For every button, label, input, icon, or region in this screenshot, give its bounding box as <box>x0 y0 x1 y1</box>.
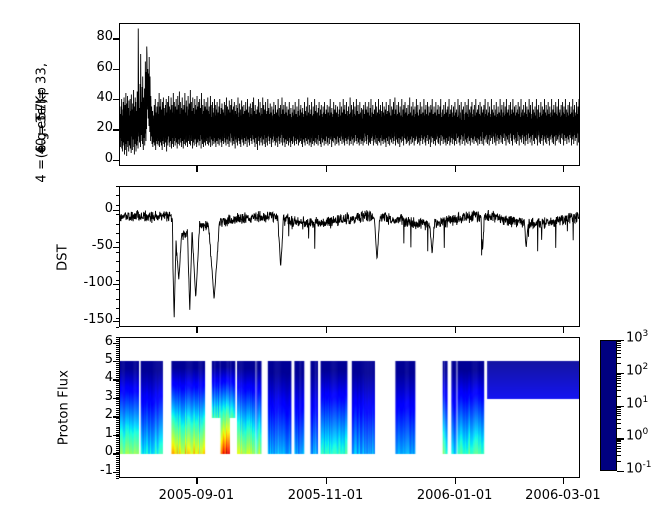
y-tick-label: 60 <box>77 60 113 75</box>
y-minor-tick <box>116 464 120 465</box>
y-minor-tick <box>116 403 120 404</box>
y-minor-tick <box>116 422 120 423</box>
y-minor-tick <box>116 474 120 475</box>
colorbar-minor-tick <box>617 363 621 364</box>
y-tick-label: -1 <box>77 463 113 478</box>
y-minor-tick <box>116 379 120 380</box>
colorbar-tick-label: 102 <box>626 362 648 378</box>
colorbar-minor-tick <box>617 411 621 412</box>
x-tick-mark <box>326 327 327 333</box>
colorbar-minor-tick <box>617 343 621 344</box>
colorbar-minor-tick <box>617 440 621 441</box>
y-minor-tick <box>116 416 120 417</box>
y-minor-tick <box>116 446 120 447</box>
y-minor-tick <box>116 399 120 400</box>
colorbar-minor-tick <box>617 380 621 381</box>
y-minor-tick <box>116 428 120 429</box>
y-minor-tick <box>116 450 120 451</box>
y-minor-tick <box>116 349 120 350</box>
colorbar-minor-tick <box>617 353 621 354</box>
x-tick-mark <box>563 478 564 484</box>
y-minor-tick <box>116 458 120 459</box>
y-minor-tick <box>116 343 120 344</box>
colorbar-minor-tick <box>617 407 621 408</box>
y-minor-tick <box>116 436 120 437</box>
y-tick-label: 80 <box>77 29 113 44</box>
colorbar-minor-tick <box>617 451 621 452</box>
colorbar-minor-tick <box>617 446 621 447</box>
y-minor-tick <box>116 438 120 439</box>
y-minor-tick <box>116 424 120 425</box>
y-minor-tick <box>116 414 120 415</box>
y-tick-label: -50 <box>77 238 113 253</box>
y-minor-tick <box>116 432 120 433</box>
y-tick-label: 0 <box>77 444 113 459</box>
y-minor-tick <box>116 393 120 394</box>
y-minor-tick <box>116 385 120 386</box>
y-minor-tick <box>116 186 120 187</box>
y-tick-label: 2 <box>77 407 113 422</box>
y-minor-tick <box>116 397 120 398</box>
y-minor-tick <box>116 395 120 396</box>
y-minor-tick <box>116 383 120 384</box>
y-minor-tick <box>116 418 120 419</box>
x-tick-mark <box>455 327 456 333</box>
y-minor-tick <box>116 242 120 243</box>
y-minor-tick <box>116 440 120 441</box>
y-tick-label: 20 <box>77 120 113 135</box>
y-tick-mark <box>113 99 119 100</box>
y-minor-tick <box>116 405 120 406</box>
y-minor-tick <box>116 391 120 392</box>
colorbar-tick-mark <box>617 471 624 472</box>
colorbar-minor-tick <box>617 415 621 416</box>
y-minor-tick <box>116 365 120 366</box>
y-minor-tick <box>116 442 120 443</box>
colorbar-minor-tick <box>617 350 621 351</box>
y-minor-tick <box>116 369 120 370</box>
colorbar-minor-tick <box>617 419 621 420</box>
y-minor-tick <box>116 261 120 262</box>
y-minor-tick <box>116 377 120 378</box>
colorbar-minor-tick <box>617 461 621 462</box>
y-tick-label: 4 <box>77 370 113 385</box>
y-minor-tick <box>116 337 120 338</box>
y-minor-tick <box>116 401 120 402</box>
y-tick-label: 40 <box>77 90 113 105</box>
colorbar-minor-tick <box>617 341 621 342</box>
proton-flux-axis-label: Proton Flux <box>57 356 72 460</box>
y-minor-tick <box>116 355 120 356</box>
y-tick-mark <box>113 247 119 248</box>
kp-series-canvas <box>120 24 579 165</box>
colorbar-minor-tick <box>617 396 621 397</box>
y-tick-mark <box>113 210 119 211</box>
x-tick-mark <box>196 166 197 172</box>
y-minor-tick <box>116 351 120 352</box>
y-minor-tick <box>116 280 120 281</box>
colorbar-minor-tick <box>617 378 621 379</box>
y-minor-tick <box>116 357 120 358</box>
y-minor-tick <box>116 456 120 457</box>
colorbar-minor-tick <box>617 357 621 358</box>
colorbar-minor-tick <box>617 448 621 449</box>
colorbar-minor-tick <box>617 383 621 384</box>
y-minor-tick <box>116 373 120 374</box>
y-tick-label: -150 <box>77 312 113 327</box>
colorbar-minor-tick <box>617 413 621 414</box>
y-minor-tick <box>116 478 120 479</box>
colorbar-minor-tick <box>617 386 621 387</box>
x-tick-mark <box>326 478 327 484</box>
y-minor-tick <box>116 430 120 431</box>
colorbar-minor-tick <box>617 345 621 346</box>
y-minor-tick <box>116 361 120 362</box>
y-minor-tick <box>116 408 120 409</box>
x-tick-mark <box>455 166 456 172</box>
y-minor-tick <box>116 308 120 309</box>
x-tick-mark <box>326 166 327 172</box>
colorbar-minor-tick <box>617 443 621 444</box>
y-tick-label: 1 <box>77 426 113 441</box>
y-minor-tick <box>116 233 120 234</box>
y-tick-mark <box>113 160 119 161</box>
y-minor-tick <box>116 454 120 455</box>
colorbar-tick-label: 101 <box>626 395 648 411</box>
x-tick-mark <box>563 166 564 172</box>
proton-flux-spectrogram <box>120 338 579 477</box>
y-minor-tick <box>116 462 120 463</box>
x-tick-label: 2005-09-01 <box>141 488 251 503</box>
y-minor-tick <box>116 420 120 421</box>
y-minor-tick <box>116 289 120 290</box>
colorbar-minor-tick <box>617 376 621 377</box>
y-minor-tick <box>116 195 120 196</box>
y-tick-label: 0 <box>77 201 113 216</box>
y-minor-tick <box>116 444 120 445</box>
y-minor-tick <box>116 345 120 346</box>
y-minor-tick <box>116 353 120 354</box>
y-minor-tick <box>116 466 120 467</box>
y-tick-label: 6 <box>77 334 113 349</box>
y-minor-tick <box>116 363 120 364</box>
y-tick-mark <box>113 38 119 39</box>
colorbar-minor-tick <box>617 390 621 391</box>
y-minor-tick <box>116 205 120 206</box>
colorbar-minor-tick <box>617 428 621 429</box>
y-minor-tick <box>116 299 120 300</box>
y-minor-tick <box>116 472 120 473</box>
colorbar-minor-tick <box>617 423 621 424</box>
x-tick-label: 2006-03-01 <box>508 488 618 503</box>
x-tick-mark <box>455 478 456 484</box>
kp-axis-label-line4: 4 = 40, etc.) <box>35 80 50 202</box>
y-minor-tick <box>116 224 120 225</box>
colorbar-minor-tick <box>617 409 621 410</box>
y-minor-tick <box>116 470 120 471</box>
y-minor-tick <box>116 426 120 427</box>
y-minor-tick <box>116 341 120 342</box>
y-minor-tick <box>116 448 120 449</box>
colorbar-tick-label: 103 <box>626 329 648 345</box>
y-minor-tick <box>116 434 120 435</box>
y-minor-tick <box>116 214 120 215</box>
y-tick-mark <box>113 284 119 285</box>
y-minor-tick <box>116 460 120 461</box>
x-tick-label: 2006-01-01 <box>400 488 510 503</box>
y-minor-tick <box>116 381 120 382</box>
dst-series-canvas <box>120 187 579 326</box>
y-minor-tick <box>116 367 120 368</box>
y-tick-mark <box>113 129 119 130</box>
y-tick-mark <box>113 69 119 70</box>
y-minor-tick <box>116 347 120 348</box>
y-tick-label: 3 <box>77 389 113 404</box>
y-tick-label: 5 <box>77 352 113 367</box>
y-minor-tick <box>116 371 120 372</box>
proton-flux-plot-panel <box>119 337 580 478</box>
y-minor-tick <box>116 410 120 411</box>
y-minor-tick <box>116 412 120 413</box>
y-minor-tick <box>116 339 120 340</box>
y-minor-tick <box>116 468 120 469</box>
y-minor-tick <box>116 476 120 477</box>
x-tick-mark <box>563 327 564 333</box>
y-minor-tick <box>116 387 120 388</box>
y-minor-tick <box>116 389 120 390</box>
colorbar-tick-label: 100 <box>626 427 648 443</box>
colorbar-tick-label: 10-1 <box>626 460 652 476</box>
y-minor-tick <box>116 271 120 272</box>
y-minor-tick <box>116 359 120 360</box>
y-minor-tick <box>116 318 120 319</box>
x-tick-label: 2005-11-01 <box>271 488 381 503</box>
y-minor-tick <box>116 375 120 376</box>
y-minor-tick <box>116 452 120 453</box>
colorbar-minor-tick <box>617 374 621 375</box>
y-tick-label: 0 <box>77 151 113 166</box>
x-tick-mark <box>196 327 197 333</box>
colorbar-minor-tick <box>617 347 621 348</box>
y-tick-mark <box>113 321 119 322</box>
y-minor-tick <box>116 252 120 253</box>
y-tick-label: -100 <box>77 275 113 290</box>
colorbar-minor-tick <box>617 455 621 456</box>
colorbar-minor-tick <box>617 441 621 442</box>
dst-axis-label: DST <box>56 228 71 288</box>
x-tick-mark <box>196 478 197 484</box>
y-minor-tick <box>116 327 120 328</box>
colorbar-gradient <box>600 340 617 471</box>
